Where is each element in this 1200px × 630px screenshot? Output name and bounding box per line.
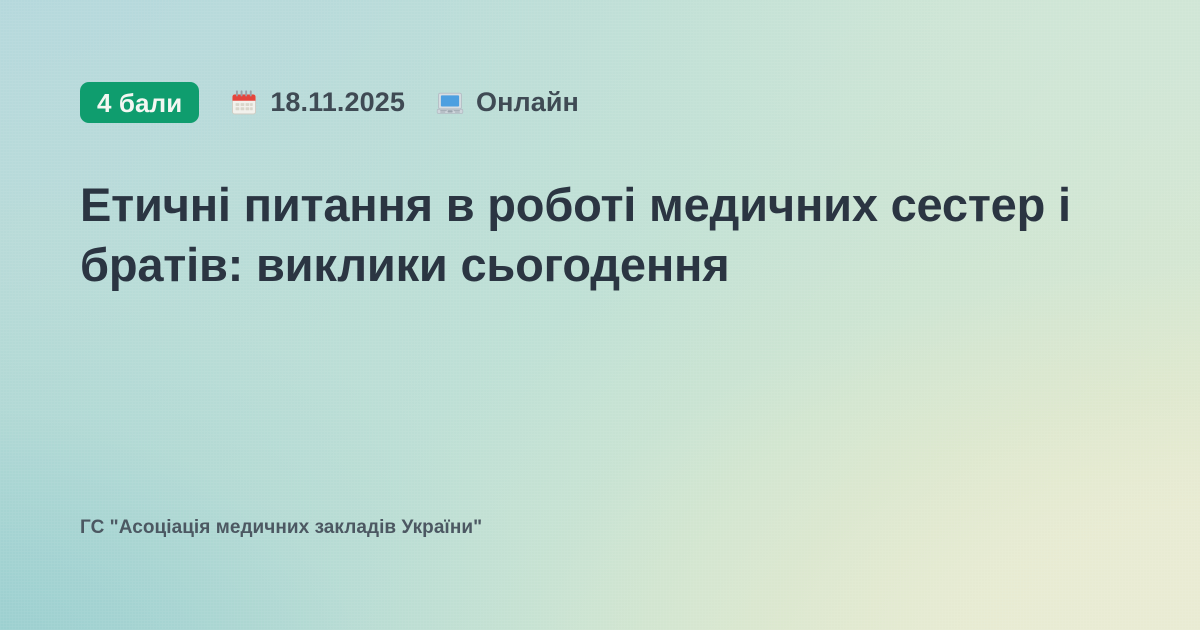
event-date: 18.11.2025 [229,87,405,118]
calendar-icon [229,88,259,118]
page-title: Етичні питання в роботі медичних сестер … [80,175,1090,294]
points-badge: 4 бали [80,82,199,123]
organizer-name: ГС "Асоціація медичних закладів України" [80,517,1120,540]
card-content: 4 бали [0,0,1200,630]
layout-spacer [80,326,1120,517]
event-format-value: Онлайн [476,87,579,118]
computer-icon [435,88,465,118]
meta-row: 4 бали [80,82,1120,123]
event-card: 4 бали [0,0,1200,630]
event-date-value: 18.11.2025 [270,87,405,118]
event-format: Онлайн [435,87,579,118]
